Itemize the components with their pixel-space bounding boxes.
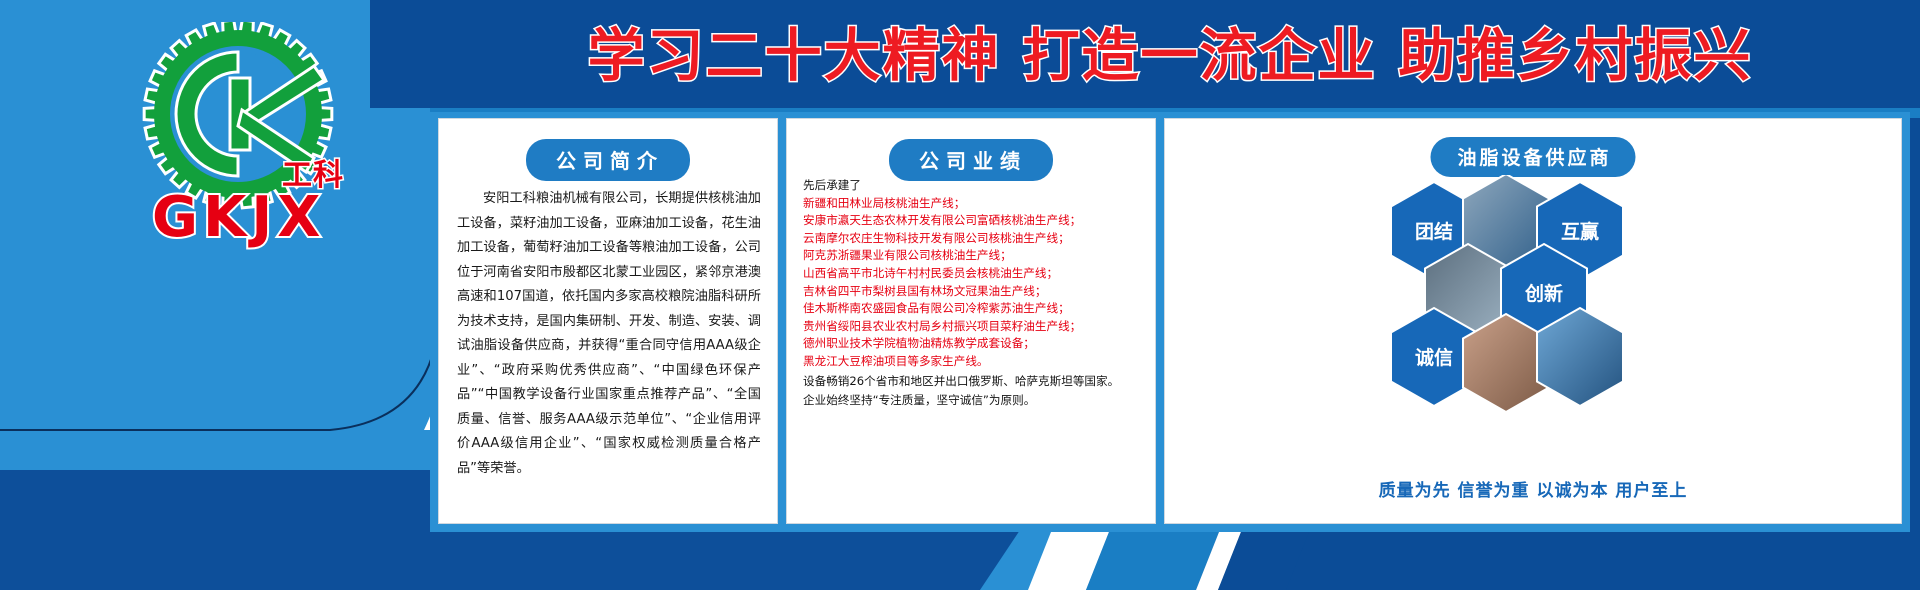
company-performance-body: 先后承建了 新疆和田林业局核桃油生产线；安康市瀛天生态农林开发有限公司富硒核桃油… [803,177,1145,410]
performance-lead: 先后承建了 [803,177,1145,195]
performance-item: 黑龙江大豆榨油项目等多家生产线。 [803,353,1145,371]
panel-company-profile: 公司简介 安阳工科粮油机械有限公司，长期提供核桃油加工设备，菜籽油加工设备，亚麻… [438,118,778,524]
performance-tail-line: 企业始终坚持“专注质量，坚守诚信”为原则。 [803,392,1145,410]
poster-canvas: 学习二十大精神 打造一流企业 助推乡村振兴 工科 GKJX [0,0,1920,590]
performance-item: 新疆和田林业局核桃油生产线； [803,195,1145,213]
performance-item: 吉林省四平市梨树县国有林场文冠果油生产线； [803,283,1145,301]
performance-item: 山西省高平市北诗午村村民委员会核桃油生产线； [803,265,1145,283]
panel-supplier: 油脂设备供应商 [1164,118,1902,524]
panel-company-performance: 公司业绩 先后承建了 新疆和田林业局核桃油生产线；安康市瀛天生态农林开发有限公司… [786,118,1156,524]
poster-title: 学习二十大精神 打造一流企业 助推乡村振兴 [420,16,1920,96]
panel-title-supplier: 油脂设备供应商 [1430,137,1635,177]
svg-text:互赢: 互赢 [1561,220,1599,243]
performance-item: 德州职业技术学院植物油精炼教学成套设备； [803,335,1145,353]
performance-item-list: 新疆和田林业局核桃油生产线；安康市瀛天生态农林开发有限公司富硒核桃油生产线；云南… [803,195,1145,371]
panel-title-company-profile: 公司简介 [526,139,690,181]
performance-item: 贵州省绥阳县农业农村局乡村振兴项目菜籽油生产线； [803,318,1145,336]
logo-en-text: GKJX [152,185,325,250]
performance-item: 云南摩尔农庄生物科技开发有限公司核桃油生产线； [803,230,1145,248]
performance-item: 安康市瀛天生态农林开发有限公司富硒核桃油生产线； [803,212,1145,230]
company-profile-body: 安阳工科粮油机械有限公司，长期提供核桃油加工设备，菜籽油加工设备，亚麻油加工设备… [457,187,761,481]
svg-text:创新: 创新 [1524,282,1563,305]
performance-tail-list: 设备畅销26个省市和地区并出口俄罗斯、哈萨克斯坦等国家。企业始终坚持“专注质量，… [803,373,1145,410]
performance-item: 佳木斯桦南农盛园食品有限公司冷榨紫苏油生产线； [803,300,1145,318]
panels-row: 公司简介 安阳工科粮油机械有限公司，长期提供核桃油加工设备，菜籽油加工设备，亚麻… [430,112,1910,532]
svg-text:诚信: 诚信 [1415,346,1453,369]
performance-item: 阿克苏浙疆果业有限公司核桃油生产线； [803,247,1145,265]
panel-title-company-performance: 公司业绩 [889,139,1053,181]
supplier-slogan: 质量为先 信誉为重 以诚为本 用户至上 [1165,476,1901,501]
performance-tail-line: 设备畅销26个省市和地区并出口俄罗斯、哈萨克斯坦等国家。 [803,373,1145,391]
svg-text:团结: 团结 [1415,220,1453,243]
hexagon-cluster: 团结互赢创新诚信 [1165,175,1901,425]
hexagon-graphics: 团结互赢创新诚信 [1165,175,1901,425]
